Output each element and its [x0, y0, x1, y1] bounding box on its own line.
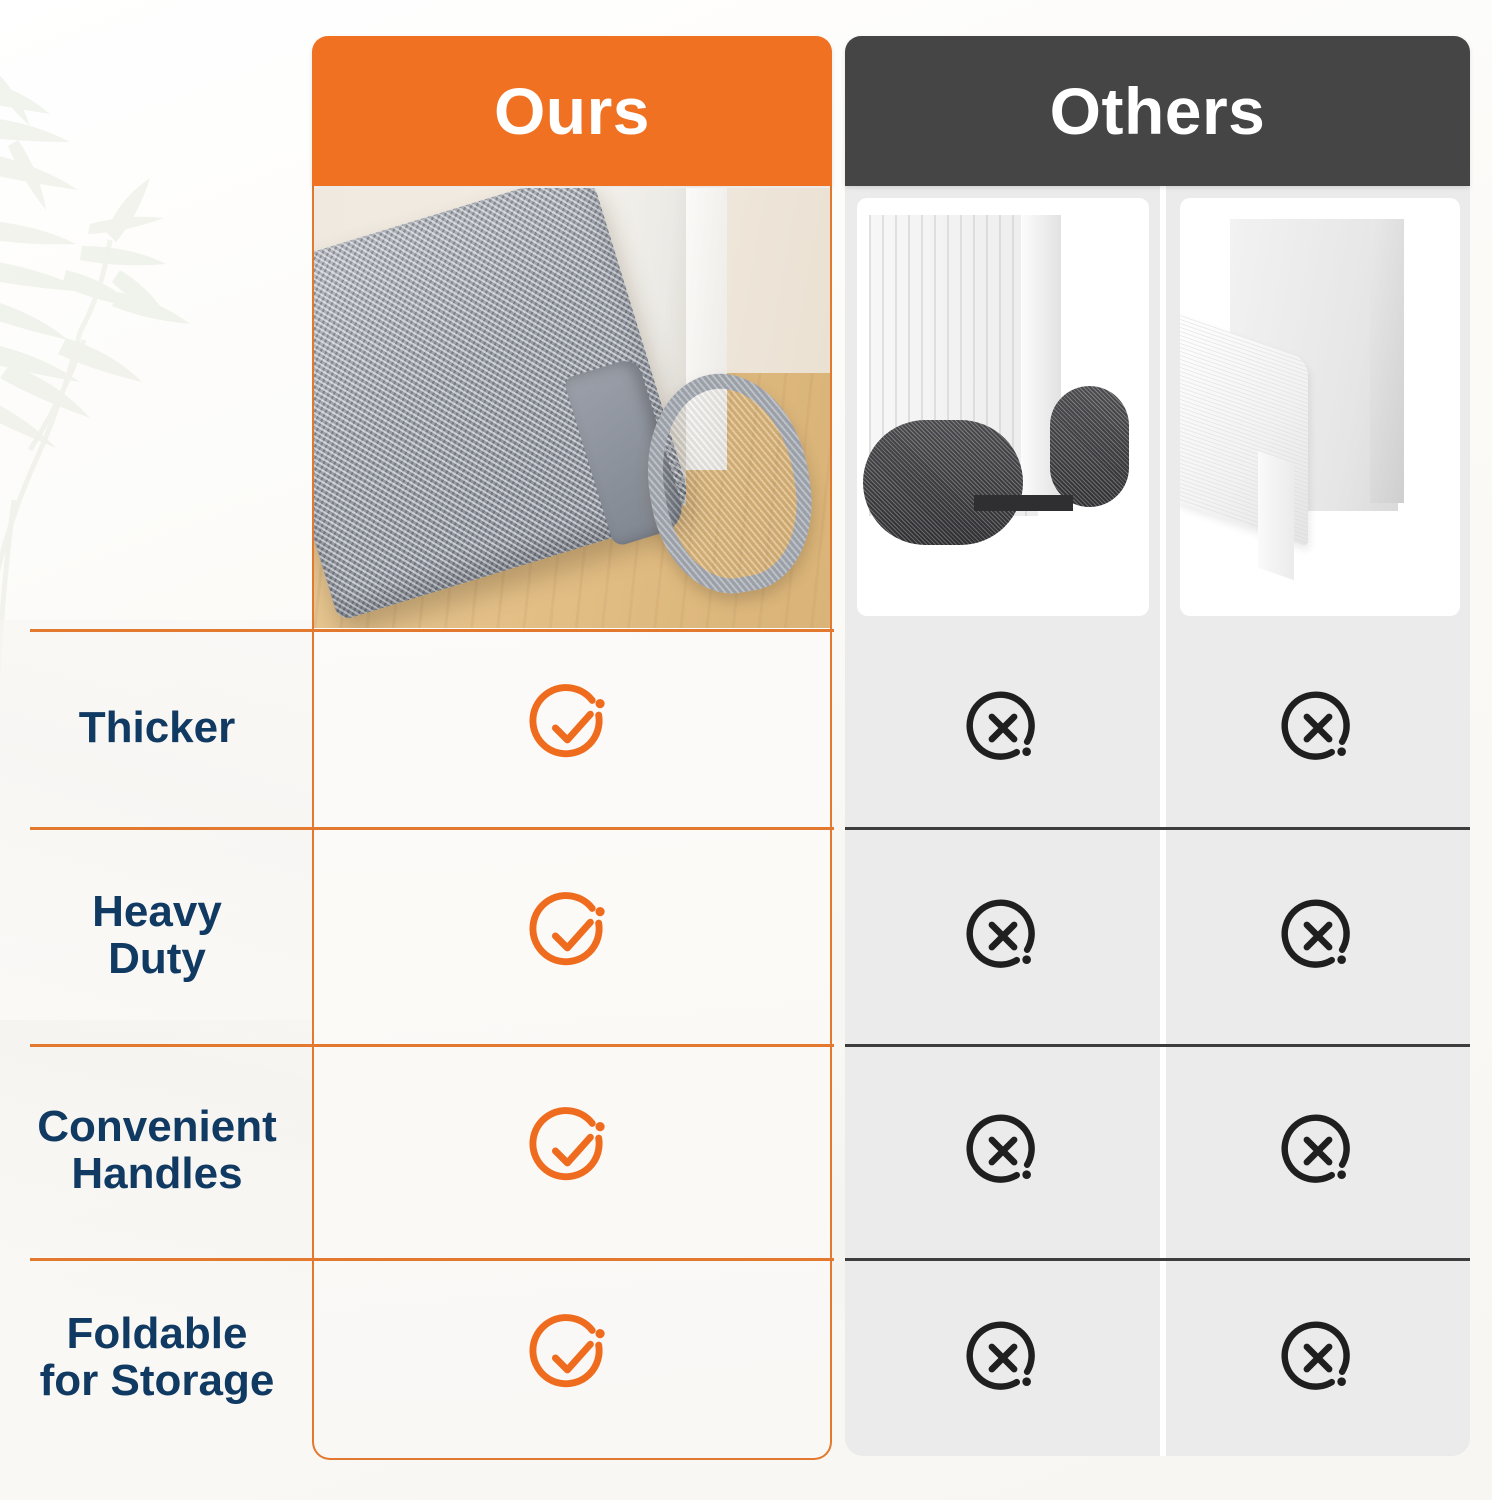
- white-door-side: [1370, 219, 1404, 503]
- cell-other2-thicker: [1166, 629, 1470, 827]
- cell-other1-convenient-handles: [845, 1044, 1160, 1258]
- product-image-other-2: [1180, 198, 1460, 616]
- product-image-other-1: [857, 198, 1149, 616]
- connecting-strap: [974, 495, 1073, 512]
- x-circle-icon: [960, 685, 1046, 771]
- cell-other2-heavy-duty: [1166, 827, 1470, 1044]
- header-others: Others: [845, 36, 1470, 186]
- cell-other1-foldable-for-storage: [845, 1258, 1160, 1458]
- row-label-heavy-duty: Heavy Duty: [18, 827, 296, 1044]
- x-circle-icon: [1275, 1315, 1361, 1401]
- check-circle-icon: [526, 1312, 618, 1404]
- x-circle-icon: [1275, 1108, 1361, 1194]
- check-circle-icon: [526, 1105, 618, 1197]
- row-label-convenient-handles: Convenient Handles: [18, 1044, 296, 1258]
- cell-ours-thicker: [312, 629, 832, 827]
- header-ours: Ours: [312, 36, 832, 186]
- check-circle-icon: [526, 682, 618, 774]
- cell-other2-foldable-for-storage: [1166, 1258, 1470, 1458]
- x-circle-icon: [960, 893, 1046, 979]
- header-ours-label: Ours: [494, 73, 650, 149]
- draft-tube-front: [863, 420, 1024, 545]
- cell-ours-foldable-for-storage: [312, 1258, 832, 1458]
- product-image-ours: [314, 188, 830, 628]
- x-circle-icon: [1275, 893, 1361, 979]
- row-label-thicker: Thicker: [18, 629, 296, 827]
- x-circle-icon: [960, 1315, 1046, 1401]
- sweep-flap: [1258, 451, 1294, 581]
- cell-other1-thicker: [845, 629, 1160, 827]
- x-circle-icon: [960, 1108, 1046, 1194]
- comparison-chart: Ours Others Thicker: [0, 0, 1492, 1500]
- bamboo-plant-icon: [0, 20, 300, 720]
- header-others-label: Others: [1050, 73, 1266, 149]
- x-circle-icon: [1275, 685, 1361, 771]
- row-label-foldable-for-storage: Foldable for Storage: [18, 1258, 296, 1458]
- cell-ours-heavy-duty: [312, 827, 832, 1044]
- draft-tube-back: [1050, 386, 1129, 507]
- check-circle-icon: [526, 890, 618, 982]
- cell-ours-convenient-handles: [312, 1044, 832, 1258]
- cell-other2-convenient-handles: [1166, 1044, 1470, 1258]
- cell-other1-heavy-duty: [845, 827, 1160, 1044]
